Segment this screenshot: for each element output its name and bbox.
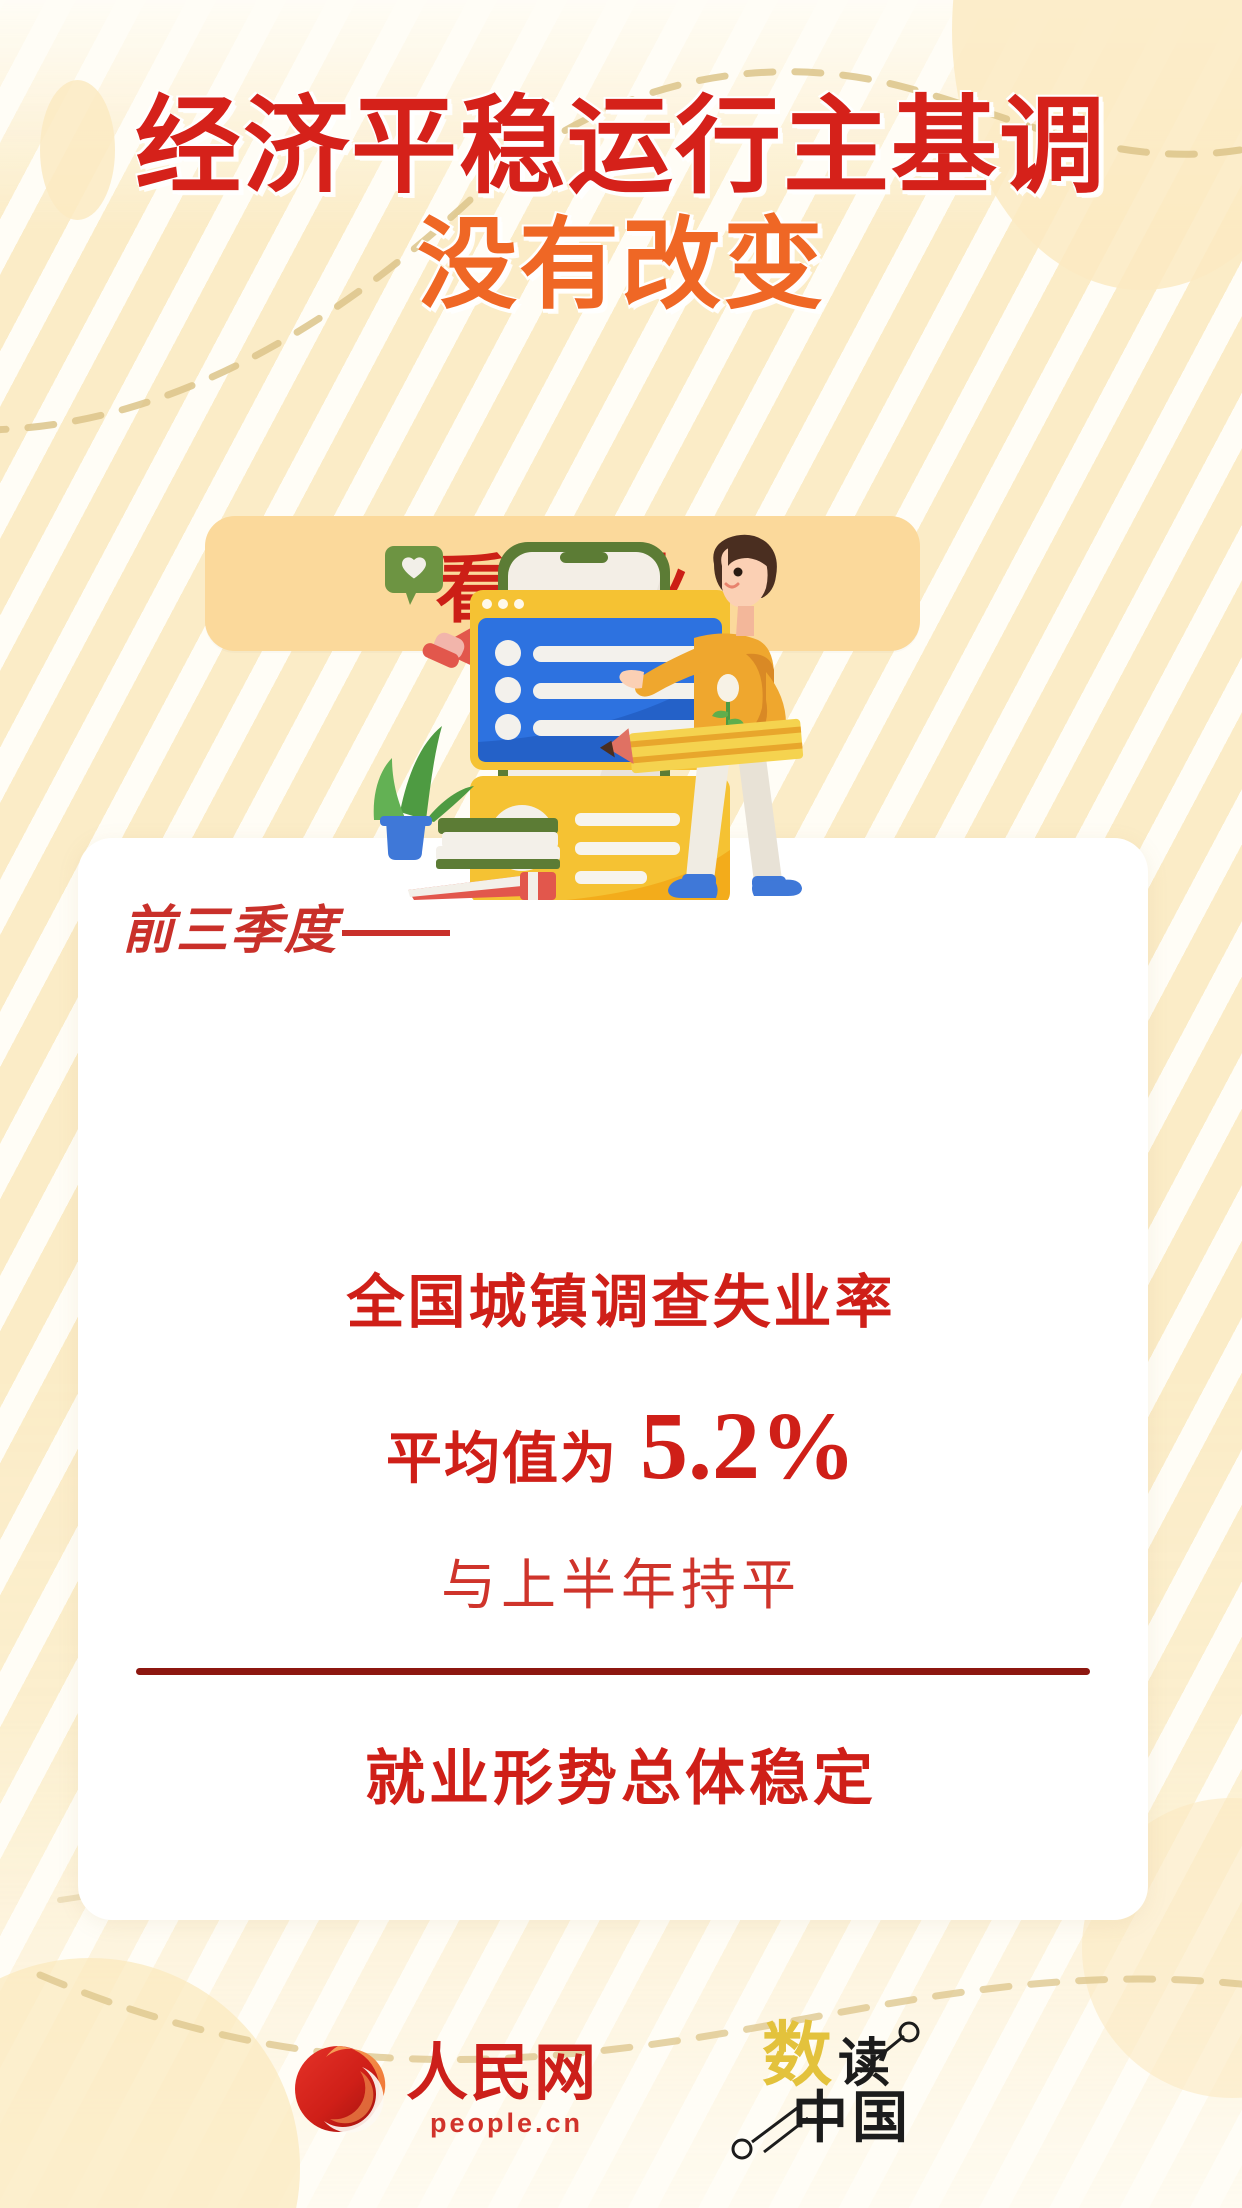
people-cn-globe-icon	[284, 2035, 392, 2143]
title-line-1: 经济平稳运行主基调	[0, 88, 1242, 207]
infographic-poster: 经济平稳运行主基调 没有改变 看就业	[0, 0, 1242, 2208]
stat-value-label: 平均值为	[386, 1414, 618, 1495]
stat-value-row: 平均值为 5.2%	[0, 1390, 1242, 1501]
shudu-char-zhong: 中	[792, 2090, 848, 2146]
stat-title: 全国城镇调查失业率	[0, 1255, 1242, 1339]
card-divider	[136, 1668, 1090, 1675]
shudu-char-guo: 国	[852, 2090, 908, 2146]
period-label-rule	[342, 930, 450, 936]
people-cn-logo: 人民网 people.cn	[284, 2035, 598, 2143]
title-line-2: 没有改变	[0, 207, 1242, 323]
shudu-char-shu: 数	[762, 2020, 832, 2090]
shudu-zhongguo-logo: 数 读 中 国	[708, 2014, 958, 2164]
stat-footer-text: 就业形势总体稳定	[0, 1730, 1242, 1817]
period-label-text: 前三季度	[122, 888, 338, 963]
illustration-svg	[330, 520, 810, 900]
shudu-row-bottom: 中 国	[792, 2090, 908, 2146]
people-cn-wordmark: 人民网 people.cn	[406, 2042, 598, 2137]
shudu-row-top: 数 读	[762, 2020, 890, 2090]
stat-value-number: 5.2%	[640, 1390, 856, 1501]
poster-title: 经济平稳运行主基调 没有改变	[0, 88, 1242, 323]
employment-illustration	[330, 520, 810, 900]
heart-like-bubble-icon	[385, 546, 443, 605]
period-label: 前三季度	[122, 888, 450, 963]
people-cn-chinese: 人民网	[406, 2042, 598, 2104]
shudu-char-du: 读	[838, 2038, 890, 2090]
poster-footer: 人民网 people.cn 数 读 中 国	[0, 2004, 1242, 2174]
people-cn-english: people.cn	[430, 2110, 583, 2137]
stat-subtext: 与上半年持平	[0, 1540, 1242, 1620]
